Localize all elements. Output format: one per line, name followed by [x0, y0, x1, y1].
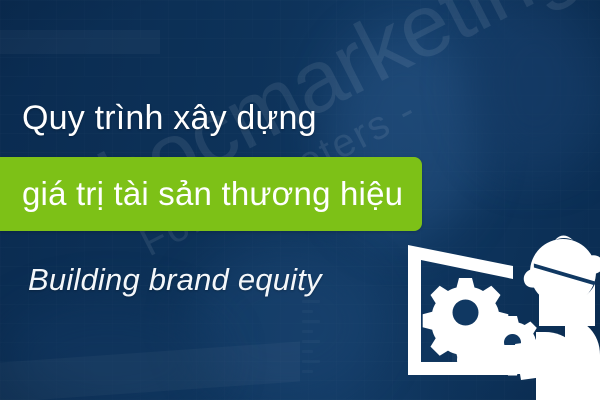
headline-subtitle: Building brand equity [28, 262, 322, 298]
headline-line-1: Quy trình xây dựng [22, 95, 317, 141]
upper-arm-icon [515, 338, 565, 380]
engineer-gears-illustration [395, 222, 600, 400]
large-gear-hub [453, 300, 479, 326]
brand-banner: hocmarketing.org For marketers - Quy trì… [0, 0, 600, 400]
headline-highlight-text: giá trị tài sản thương hiệu [22, 157, 414, 231]
worker-shoulder-icon [565, 318, 600, 400]
